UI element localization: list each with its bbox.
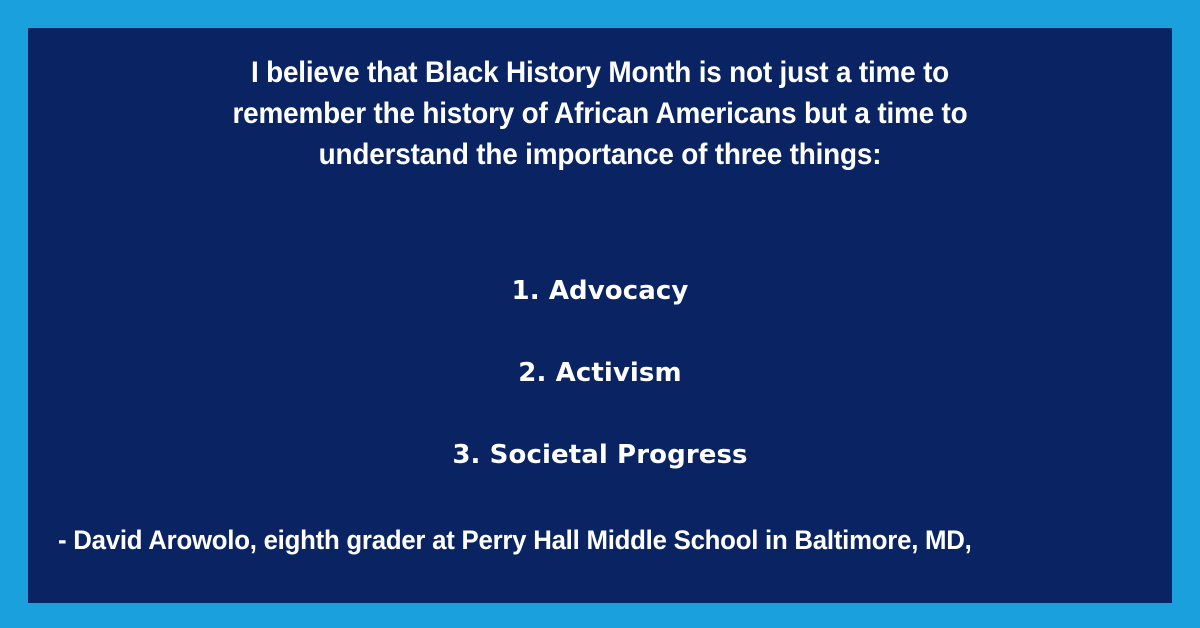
quote-list: 1. Advocacy 2. Activism 3. Societal Prog… xyxy=(28,250,1172,496)
list-item: 2. Activism xyxy=(28,332,1172,414)
list-item: 3. Societal Progress xyxy=(28,414,1172,496)
quote-attribution: - David Arowolo, eighth grader at Perry … xyxy=(58,520,1122,560)
list-item: 1. Advocacy xyxy=(28,250,1172,332)
quote-card: I believe that Black History Month is no… xyxy=(0,0,1200,628)
quote-heading: I believe that Black History Month is no… xyxy=(68,52,1132,175)
quote-heading-line-2: remember the history of African American… xyxy=(68,93,1132,134)
quote-heading-line-3: understand the importance of three thing… xyxy=(68,134,1132,175)
quote-heading-line-1: I believe that Black History Month is no… xyxy=(68,52,1132,93)
quote-panel: I believe that Black History Month is no… xyxy=(28,28,1172,603)
